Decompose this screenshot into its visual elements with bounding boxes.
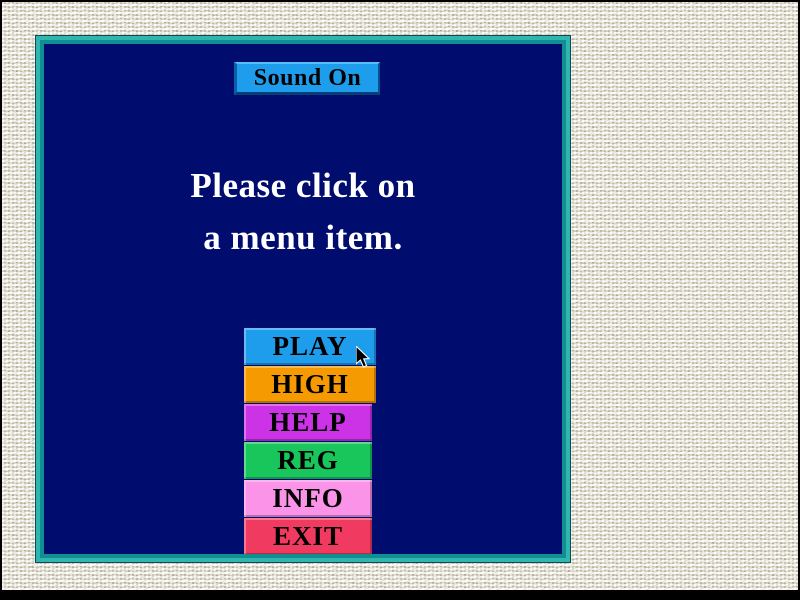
menu-item-info-label: INFO xyxy=(272,485,344,512)
instruction-message-line-1: Please click on xyxy=(44,160,562,212)
menu-item-exit-label: EXIT xyxy=(273,523,343,550)
menu-item-high-label: HIGH xyxy=(271,371,349,398)
game-window: Sound On Please click on a menu item. PL… xyxy=(36,36,570,562)
menu-item-exit[interactable]: EXIT xyxy=(244,518,372,554)
screen-bottom-bar xyxy=(0,590,800,600)
menu-item-reg[interactable]: REG xyxy=(244,442,372,479)
screen: Sound On Please click on a menu item. PL… xyxy=(0,0,800,600)
sound-toggle-button[interactable]: Sound On xyxy=(234,62,380,95)
main-menu: PLAY HIGH HELP REG INFO EXIT xyxy=(244,328,372,554)
menu-item-help[interactable]: HELP xyxy=(244,404,372,441)
game-canvas: Sound On Please click on a menu item. PL… xyxy=(44,44,562,554)
menu-item-help-label: HELP xyxy=(269,409,347,436)
menu-item-play-label: PLAY xyxy=(272,333,347,360)
menu-item-high[interactable]: HIGH xyxy=(244,366,376,403)
menu-item-play[interactable]: PLAY xyxy=(244,328,376,365)
instruction-message: Please click on a menu item. xyxy=(44,160,562,264)
instruction-message-line-2: a menu item. xyxy=(44,212,562,264)
menu-item-reg-label: REG xyxy=(277,447,339,474)
sound-toggle-label: Sound On xyxy=(254,66,361,90)
menu-item-info[interactable]: INFO xyxy=(244,480,372,517)
